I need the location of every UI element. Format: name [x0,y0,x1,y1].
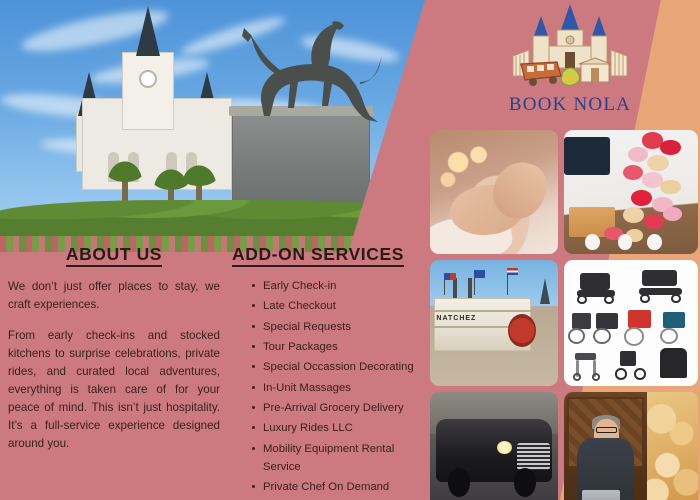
massage-photo [430,130,558,254]
andrew-jackson-statue [228,20,388,124]
addon-services-list: Early Check-in Late Checkout Special Req… [252,277,418,496]
list-item: In-Unit Massages [252,379,418,397]
balloons-photo [564,130,698,254]
about-section: ABOUT US We don’t just offer places to s… [8,244,220,453]
list-item: Private Chef On Demand [252,478,418,496]
mobility-photo [564,260,698,386]
pasta-dish [647,392,698,500]
photo-gallery: NATCHEZ [430,130,698,500]
brochure-page: BOOK NOLA ABOUT US We don’t just offer p… [0,0,700,500]
list-item: Tour Packages [252,338,418,356]
list-item: Special Requests [252,318,418,336]
list-item: Early Check-in [252,277,418,295]
list-item: Late Checkout [252,297,418,315]
list-item: Pre-Arrival Grocery Delivery [252,399,418,417]
cooking-pot-icon [582,490,620,500]
about-paragraph: We don’t just offer places to stay, we c… [8,278,220,314]
about-paragraph: From early check-ins and stocked kitchen… [8,327,220,453]
st-louis-cathedral [62,10,252,190]
list-item: Special Occassion Decorating [252,358,418,376]
glasses-icon [596,427,618,433]
addon-heading: ADD-ON SERVICES [232,244,404,267]
about-body: We don’t just offer places to stay, we c… [8,278,220,453]
list-item: Luxury Rides LLC [252,419,418,437]
clock-icon [139,70,157,88]
list-item: Mobility Equipment Rental Service [252,440,418,477]
hero-illustration [0,0,425,252]
luxury-suv-photo [430,392,558,500]
addon-services-section: ADD-ON SERVICES Early Check-in Late Chec… [218,244,418,498]
hero-image-jackson-square [0,0,425,252]
brand-name: BOOK NOLA [495,94,645,116]
statue-plinth [232,112,370,208]
brand-logo[interactable]: BOOK NOLA [495,2,645,124]
steamboat-name-caption: NATCHEZ [436,315,476,322]
chef-photo [564,392,698,500]
cathedral-streetcar-logo-icon [495,2,645,98]
about-heading: ABOUT US [66,244,162,267]
steamboat-photo: NATCHEZ [430,260,558,386]
